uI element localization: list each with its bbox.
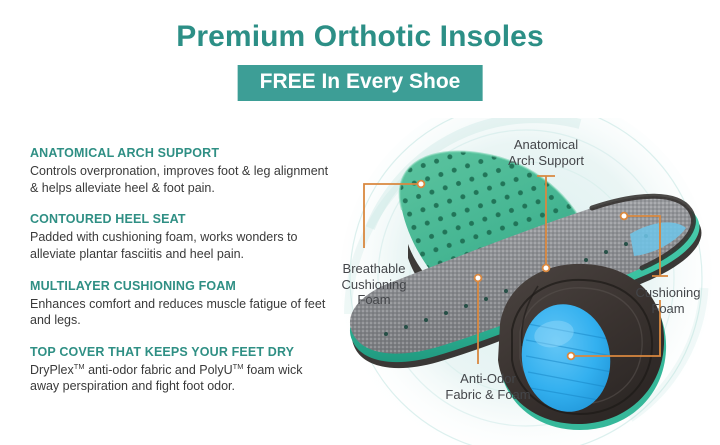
feature-body-part: anti-odor fabric and PolyU <box>85 363 233 377</box>
trademark-symbol: TM <box>74 362 85 371</box>
callout-label-anti-odor-fabric-foam: Anti-Odor Fabric & Foam <box>408 371 568 402</box>
feature-body: Enhances comfort and reduces muscle fati… <box>30 296 330 329</box>
trademark-symbol: TM <box>233 362 244 371</box>
feature-body: Controls overpronation, improves foot & … <box>30 163 330 196</box>
feature-item-arch-support: ANATOMICAL ARCH SUPPORT Controls overpro… <box>30 146 330 196</box>
feature-heading: TOP COVER THAT KEEPS YOUR FEET DRY <box>30 345 330 360</box>
feature-item-cushioning-foam: MULTILAYER CUSHIONING FOAM Enhances comf… <box>30 279 330 329</box>
feature-item-top-cover: TOP COVER THAT KEEPS YOUR FEET DRY DryPl… <box>30 345 330 395</box>
feature-heading: CONTOURED HEEL SEAT <box>30 212 330 227</box>
feature-list: ANATOMICAL ARCH SUPPORT Controls overpro… <box>30 146 330 395</box>
feature-body: DryPlexTM anti-odor fabric and PolyUTM f… <box>30 362 330 395</box>
callout-label-breathable-cushioning-foam: Breathable Cushioning Foam <box>324 261 424 308</box>
feature-heading: ANATOMICAL ARCH SUPPORT <box>30 146 330 161</box>
free-banner: FREE In Every Shoe <box>238 65 483 101</box>
feature-heading: MULTILAYER CUSHIONING FOAM <box>30 279 330 294</box>
callout-label-anatomical-arch-support: Anatomical Arch Support <box>481 137 611 168</box>
feature-item-heel-seat: CONTOURED HEEL SEAT Padded with cushioni… <box>30 212 330 262</box>
brand-dryplex: DryPlex <box>30 363 74 377</box>
insole-diagram: Anatomical Arch Support Breathable Cushi… <box>330 118 720 445</box>
feature-body: Padded with cushioning foam, works wonde… <box>30 229 330 262</box>
infographic-page: Premium Orthotic Insoles FREE In Every S… <box>0 0 720 445</box>
page-title: Premium Orthotic Insoles <box>0 22 720 52</box>
callout-label-cushioning-foam: Cushioning Foam <box>618 285 718 316</box>
